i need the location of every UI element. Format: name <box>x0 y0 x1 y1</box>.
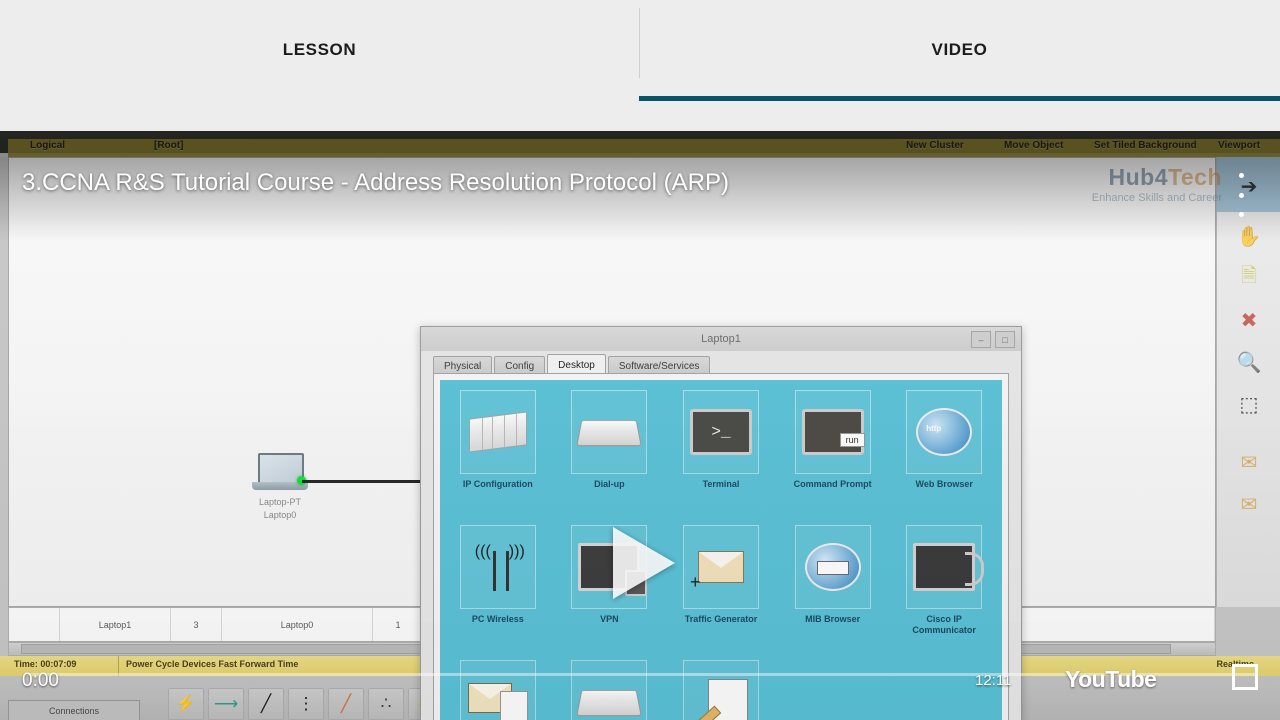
device-label-line1: Laptop-PT <box>241 497 319 508</box>
desktop-item-terminal[interactable]: >_ Terminal <box>665 384 777 519</box>
table-cell: Laptop0 <box>222 608 373 641</box>
desktop-item-dial-up[interactable]: Dial-up <box>554 384 666 519</box>
desktop-item-ip-configuration[interactable]: IP Configuration <box>442 384 554 519</box>
duration-label: 12:11 <box>975 672 1011 689</box>
desktop-item-label: Cisco IP Communicator <box>902 614 986 636</box>
brand-name-left: Hub4 <box>1109 164 1169 190</box>
add-simple-pdu-icon[interactable]: ✉ <box>1231 445 1267 479</box>
desktop-item-label: MIB Browser <box>805 614 860 625</box>
brand-tagline: Enhance Skills and Career <box>1092 192 1222 204</box>
desktop-item-label: Traffic Generator <box>685 614 758 625</box>
brand-watermark: Hub4Tech Enhance Skills and Career <box>1092 164 1222 204</box>
workspace-device-laptop0[interactable]: Laptop-PT Laptop0 <box>241 453 319 521</box>
kebab-dot <box>1239 193 1244 198</box>
device-label-line2: Laptop0 <box>241 510 319 521</box>
dialog-titlebar: Laptop1 – □ <box>421 327 1021 351</box>
play-button[interactable] <box>613 527 675 599</box>
brand-name: Hub4Tech <box>1092 164 1222 191</box>
packet-tracer-right-toolbar: ➔ ✋ 🗎 ✖ 🔍 ⬚ ✉ ✉ <box>1216 157 1280 607</box>
desktop-item-label: PC Wireless <box>472 614 524 625</box>
place-note-icon[interactable]: 🗎 <box>1231 261 1267 295</box>
table-cell: 1 <box>373 608 424 641</box>
terminal-icon: >_ <box>683 390 759 474</box>
youtube-control-bar: 0:00 12:11 YouTube <box>0 664 1280 720</box>
set-tiled-background-button[interactable]: Set Tiled Background <box>1094 140 1197 151</box>
tab-video-label: VIDEO <box>932 40 988 60</box>
desktop-item-command-prompt[interactable]: Command Prompt <box>777 384 889 519</box>
table-cell: Laptop1 <box>60 608 171 641</box>
fullscreen-corner <box>1245 677 1258 690</box>
inspect-tool-icon[interactable]: ✋ <box>1231 219 1267 253</box>
brand-name-right: Tech <box>1168 164 1222 190</box>
desktop-item-label: Dial-up <box>594 479 625 490</box>
desktop-item-label: Command Prompt <box>794 479 872 490</box>
desktop-item-label: VPN <box>600 614 619 625</box>
resize-shape-icon[interactable]: ⬚ <box>1231 387 1267 421</box>
command-prompt-icon <box>795 390 871 474</box>
video-player[interactable]: Logical [Root] New Cluster Move Object S… <box>0 131 1280 720</box>
table-cell: 3 <box>171 608 222 641</box>
view-mode-logical[interactable]: Logical <box>30 140 65 151</box>
desktop-item-label: IP Configuration <box>463 479 533 490</box>
content-tabs: LESSON VIDEO <box>0 0 1280 131</box>
view-root-label: [Root] <box>154 140 183 151</box>
pc-wireless-icon: ((( ))) <box>460 525 536 609</box>
mib-browser-icon <box>795 525 871 609</box>
table-cell <box>9 608 60 641</box>
video-frame: Logical [Root] New Cluster Move Object S… <box>0 131 1280 720</box>
delete-tool-icon[interactable]: ✖ <box>1231 303 1267 337</box>
desktop-item-mib-browser[interactable]: MIB Browser <box>777 519 889 654</box>
maximize-button[interactable]: □ <box>995 331 1015 348</box>
inspect-magnifier-icon[interactable]: 🔍 <box>1231 345 1267 379</box>
desktop-item-pc-wireless[interactable]: ((( ))) PC Wireless <box>442 519 554 654</box>
tab-video[interactable]: VIDEO <box>639 0 1280 100</box>
fullscreen-corner <box>1232 677 1245 690</box>
device-dialog-laptop1: Laptop1 – □ Physical Config Desktop Soft… <box>420 326 1022 720</box>
video-title: 3.CCNA R&S Tutorial Course - Address Res… <box>22 169 729 197</box>
desktop-item-cisco-ip-communicator[interactable]: Cisco IP Communicator <box>888 519 1000 654</box>
new-cluster-button[interactable]: New Cluster <box>906 140 964 151</box>
tab-lesson-label: LESSON <box>283 40 357 60</box>
youtube-logo[interactable]: YouTube <box>1065 666 1156 693</box>
fullscreen-corner <box>1232 664 1245 677</box>
cisco-ip-communicator-icon <box>906 525 982 609</box>
viewport-button[interactable]: Viewport <box>1218 140 1260 151</box>
dial-up-icon <box>571 390 647 474</box>
dialog-title: Laptop1 <box>701 333 741 345</box>
kebab-dot <box>1239 212 1244 217</box>
packet-tracer-view-bar: Logical [Root] New Cluster Move Object S… <box>8 139 1280 157</box>
dialog-window-buttons: – □ <box>971 331 1015 348</box>
current-time-label: 0:00 <box>22 670 59 692</box>
minimize-button[interactable]: – <box>971 331 991 348</box>
add-complex-pdu-icon[interactable]: ✉ <box>1231 487 1267 521</box>
desktop-item-traffic-generator[interactable]: + Traffic Generator <box>665 519 777 654</box>
traffic-generator-icon: + <box>683 525 759 609</box>
desktop-item-label: Web Browser <box>916 479 973 490</box>
desktop-item-web-browser[interactable]: Web Browser <box>888 384 1000 519</box>
tab-lesson[interactable]: LESSON <box>0 0 639 100</box>
ip-configuration-icon <box>460 390 536 474</box>
fullscreen-icon[interactable] <box>1232 664 1258 690</box>
web-browser-icon <box>906 390 982 474</box>
desktop-item-label: Terminal <box>703 479 740 490</box>
page-root: LESSON VIDEO Logical [Root] New Cluster … <box>0 0 1280 720</box>
kebab-dot <box>1239 173 1244 178</box>
laptop-icon <box>252 453 308 495</box>
more-vertical-icon[interactable] <box>1230 169 1252 221</box>
fullscreen-corner <box>1245 664 1258 677</box>
move-object-button[interactable]: Move Object <box>1004 140 1063 151</box>
active-tab-underline <box>639 96 1280 101</box>
